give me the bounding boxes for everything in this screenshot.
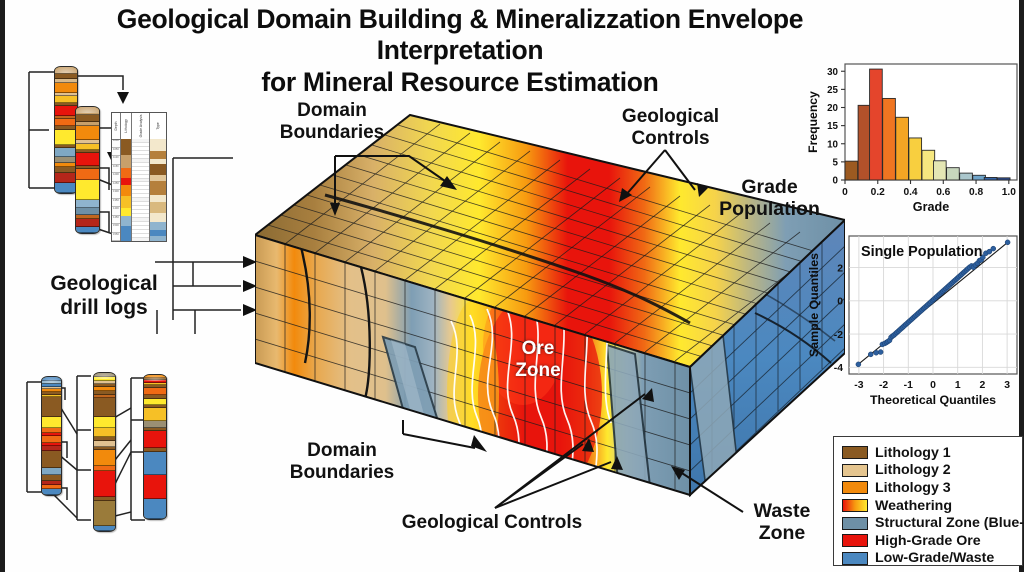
qq-title: Single Population [861,244,983,260]
core-cap-highlight [55,67,77,73]
histogram-y-tick: 30 [827,67,838,78]
histogram-bar [997,178,1010,180]
legend-row[interactable]: Lithology 1 [842,444,1014,462]
legend-row[interactable]: Structural Zone (Blue-Gray) [842,514,1014,532]
qq-plot[interactable]: -3-2-10123-4-202Single PopulationTheoret… [805,222,1024,414]
core-interval [76,200,99,208]
histogram-bar [883,98,896,180]
lithology-legend[interactable]: Lithology 1Lithology 2Lithology 3Weather… [833,436,1023,566]
legend-swatch [842,481,868,494]
qq-point [856,362,861,367]
label-waste-zone: Waste Zone [743,500,821,544]
core-cap-highlight [42,377,61,383]
histogram-x-tick: 0.6 [936,187,950,198]
histogram-y-tick: 20 [827,103,838,114]
strip-log-column-header: Type [150,113,166,140]
histogram-bar [947,168,960,180]
strip-log-column-body [132,139,149,241]
qq-y-tick: -2 [834,330,843,341]
histogram-bar [896,117,909,180]
legend-row[interactable]: Low-Grade/Waste [842,550,1014,568]
label-domain-boundaries-bottom: Domain Boundaries [277,440,407,483]
core-interval [76,126,99,140]
histogram-x-label: Grade [913,200,949,214]
histogram-bar [973,175,986,180]
strip-log-column: Depth10001050110011501200125013001350140… [112,113,121,241]
histogram-y-tick: 5 [833,157,839,168]
legend-swatch [842,534,868,547]
strip-log-column-body: 1000105011001150120012501300135014001450… [112,139,120,241]
drill-core-bottom-mid[interactable] [93,372,116,532]
core-interval [144,388,166,395]
core-interval [144,408,166,422]
title-line-2: for Mineral Resource Estimation [65,67,855,98]
strip-log-column-header: Lithology [121,113,131,140]
core-interval [94,398,115,418]
core-interval [76,169,99,179]
qq-y-tick: 2 [837,263,843,274]
qq-point [874,350,879,355]
histogram-bar [933,161,946,180]
histogram-y-tick: 25 [827,85,838,96]
legend-row[interactable]: High-Grade Ore [842,532,1014,550]
histogram-y-tick: 0 [833,176,839,187]
histogram-x-tick: 1.0 [1002,187,1016,198]
drill-core-top-mid[interactable] [75,106,100,234]
histogram-bar [858,105,871,180]
qq-x-tick: -1 [904,380,913,391]
core-interval [42,397,61,417]
qq-y-tick: -4 [834,363,843,374]
histogram-x-tick: 0.8 [969,187,983,198]
label-geological-controls-top: Geological Controls [603,106,738,149]
core-interval [76,208,99,215]
qq-y-label: Sample Quantiles [807,253,821,357]
legend-swatch [842,446,868,459]
core-interval [42,489,61,495]
core-interval [55,183,77,193]
legend-label: Weathering [875,498,952,514]
core-interval [94,526,115,531]
qq-point [1005,240,1010,245]
core-interval [55,130,77,145]
label-domain-boundaries-top: Domain Boundaries [267,100,397,143]
grade-histogram[interactable]: 05101520253000.20.40.60.81.0GradeFrequen… [805,52,1024,214]
legend-row[interactable]: Lithology 2 [842,462,1014,480]
qq-x-tick: 0 [930,380,936,391]
core-interval [76,227,99,233]
core-interval [42,436,61,443]
histogram-y-tick: 10 [827,139,838,150]
strip-log-column-body [121,139,131,241]
legend-label: Structural Zone (Blue-Gray) [875,515,1024,531]
qq-x-tick: 3 [1004,380,1010,391]
qq-x-tick: -2 [879,380,888,391]
core-interval [144,452,166,475]
histogram-bar [922,150,935,180]
page-title: Geological Domain Building & Mineralizza… [65,4,855,98]
strip-log-column: Lithology [121,113,132,241]
label-drill-logs: Geological drill logs [29,272,179,320]
legend-label: High-Grade Ore [875,533,981,549]
histogram-bar [984,177,997,180]
core-interval [144,475,166,499]
core-interval [76,180,99,200]
core-interval [94,450,115,466]
strip-log-column-body [150,139,166,241]
legend-swatch [842,464,868,477]
poster-canvas: Geological Domain Building & Mineralizza… [0,0,1024,572]
qq-point [878,350,883,355]
core-interval [94,471,115,498]
legend-label: Low-Grade/Waste [875,550,994,566]
core-interval [144,431,166,448]
qq-y-tick: 0 [837,297,843,308]
strip-log-column-header: Grade Analysis [132,113,149,140]
histogram-x-tick: 0 [842,187,848,198]
core-cap-highlight [144,375,166,381]
core-interval [94,417,115,428]
core-interval [55,148,77,157]
qq-point [991,246,996,251]
drill-core-bottom-right[interactable] [143,374,167,520]
legend-label: Lithology 3 [875,480,951,496]
strip-log-column: Grade Analysis [132,113,150,241]
legend-label: Lithology 2 [875,462,951,478]
histogram-y-tick: 15 [827,121,838,132]
qq-point [868,352,873,357]
legend-swatch [842,517,868,530]
core-interval [42,468,61,475]
qq-x-tick: -3 [854,380,863,391]
qq-x-tick: 1 [955,380,961,391]
histogram-x-tick: 0.2 [871,187,885,198]
legend-row[interactable]: Lithology 3 [842,479,1014,497]
strip-log-column-header: Depth [112,113,120,140]
strip-log-table[interactable]: Depth10001050110011501200125013001350140… [111,112,167,242]
legend-label: Lithology 1 [875,445,951,461]
legend-swatch [842,552,868,565]
core-interval [55,83,77,93]
qq-x-tick: 2 [980,380,986,391]
core-interval [144,499,166,519]
core-interval [55,106,77,116]
core-interval [76,219,99,227]
legend-row[interactable]: Weathering [842,497,1014,515]
label-ore-zone: Ore Zone [503,338,573,381]
core-interval [94,428,115,437]
drill-core-bottom-left[interactable] [41,376,62,496]
histogram-bar [909,138,922,180]
core-interval [94,501,115,526]
core-cap-highlight [76,107,99,113]
core-interval [42,451,61,469]
qq-x-label: Theoretical Quantiles [870,393,996,407]
histogram-bar [870,69,883,180]
core-interval [76,153,99,166]
label-geological-controls-bottom: Geological Controls [397,512,587,534]
core-interval [76,115,99,122]
legend-swatch [842,499,868,512]
core-interval [42,417,61,429]
title-line-1: Geological Domain Building & Mineralizza… [117,4,803,65]
core-interval [55,173,77,183]
histogram-bar [960,173,973,180]
histogram-bar [845,161,858,180]
histogram-x-tick: 0.4 [903,187,917,198]
histogram-y-label: Frequency [806,91,820,153]
core-cap-highlight [94,373,115,379]
strip-log-column: Type [150,113,166,241]
